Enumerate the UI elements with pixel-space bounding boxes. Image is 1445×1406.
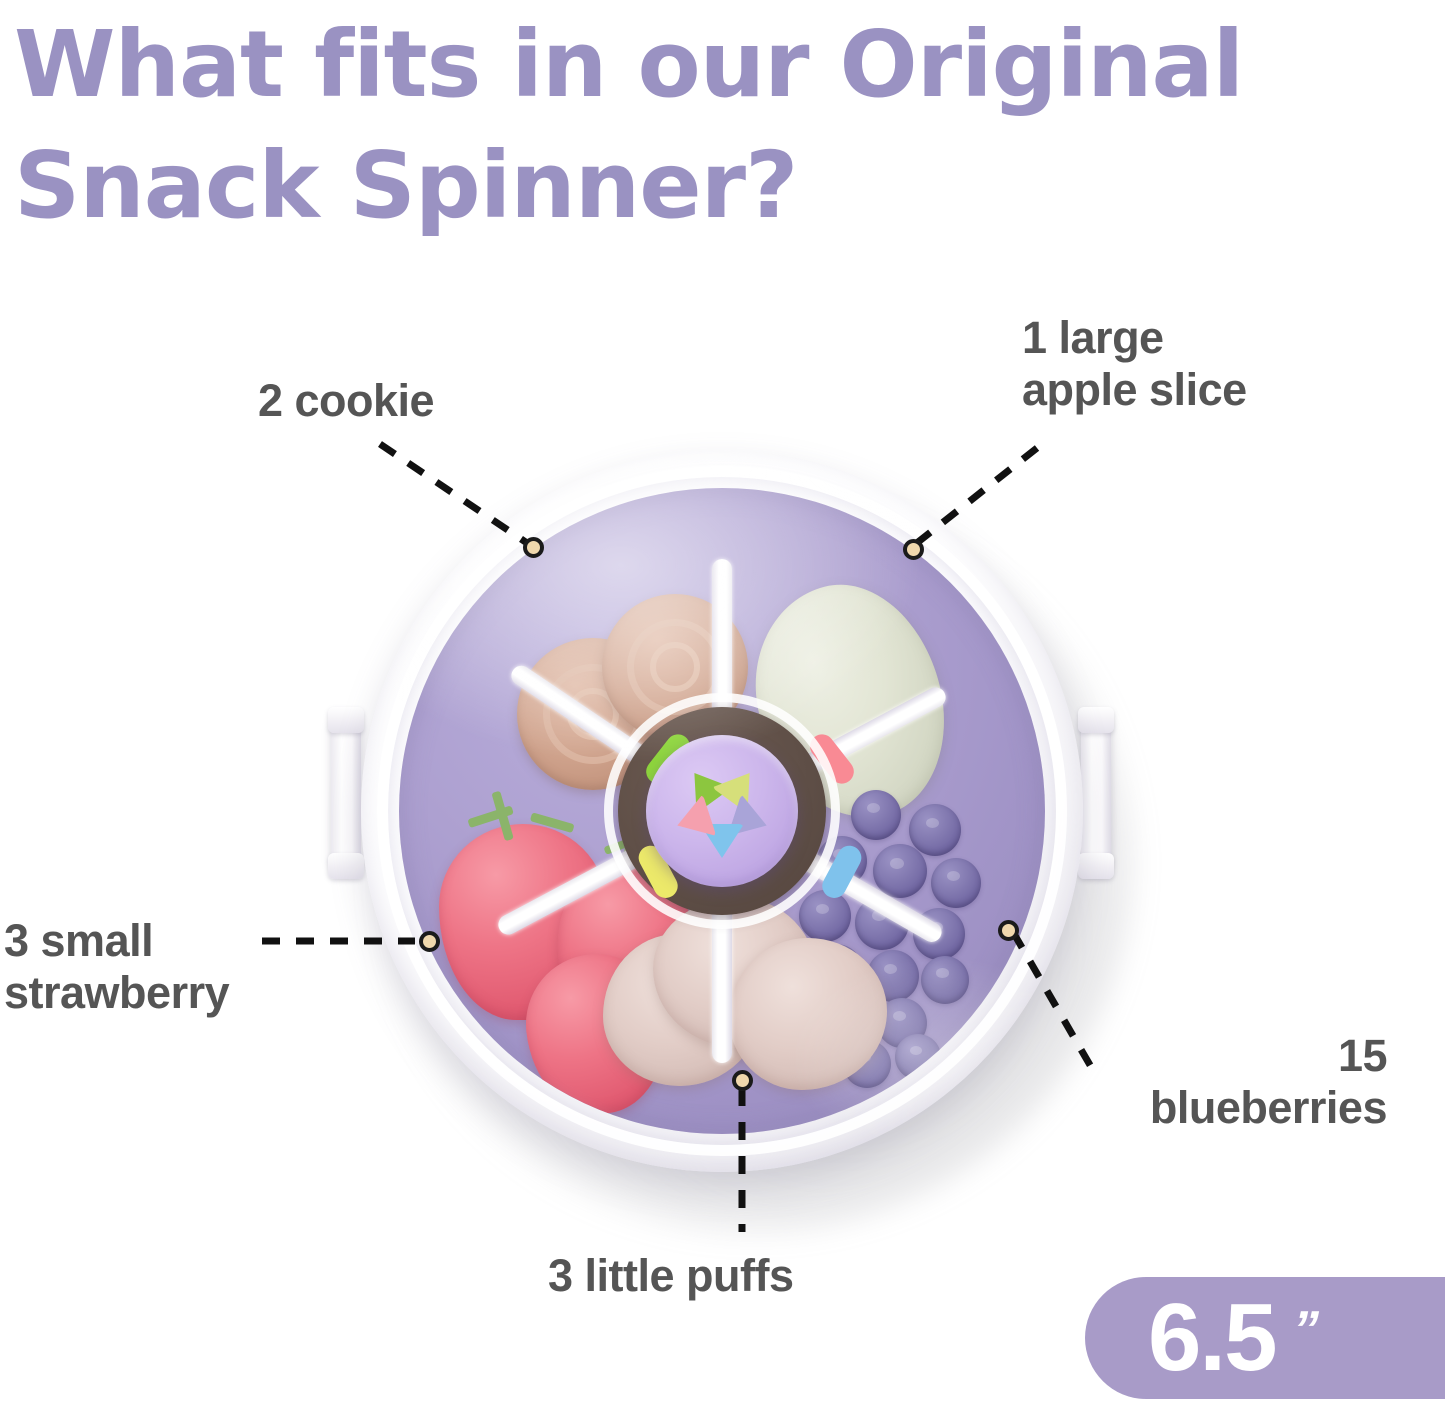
lid-rim — [377, 466, 1067, 1156]
page-title: What fits in our Original Snack Spinner? — [14, 4, 1434, 247]
infographic-canvas: What fits in our Original Snack Spinner? — [0, 0, 1445, 1406]
size-badge: 6.5 ” — [1085, 1277, 1445, 1399]
callout-dot-icon-puffs — [732, 1070, 753, 1091]
callout-dot-icon-apple — [903, 539, 924, 560]
side-latch-right-icon — [1081, 714, 1111, 872]
callout-dot-icon-strawberry — [419, 931, 440, 952]
callout-dot-icon-blueberries — [998, 920, 1019, 941]
snack-spinner-product-image — [333, 432, 1109, 1208]
callout-label-puffs: 3 little puffs — [548, 1250, 794, 1302]
callout-label-cookie: 2 cookie — [258, 375, 434, 427]
callout-label-apple: 1 large apple slice — [1022, 312, 1247, 416]
size-badge-value: 6.5 — [1148, 1290, 1275, 1386]
callout-label-blueberries: 15 blueberries — [1019, 1030, 1387, 1134]
callout-label-strawberry: 3 small strawberry — [4, 915, 229, 1019]
side-latch-left-icon — [331, 714, 361, 872]
size-badge-unit: ” — [1288, 1304, 1325, 1356]
callout-dot-icon-cookie — [523, 537, 544, 558]
